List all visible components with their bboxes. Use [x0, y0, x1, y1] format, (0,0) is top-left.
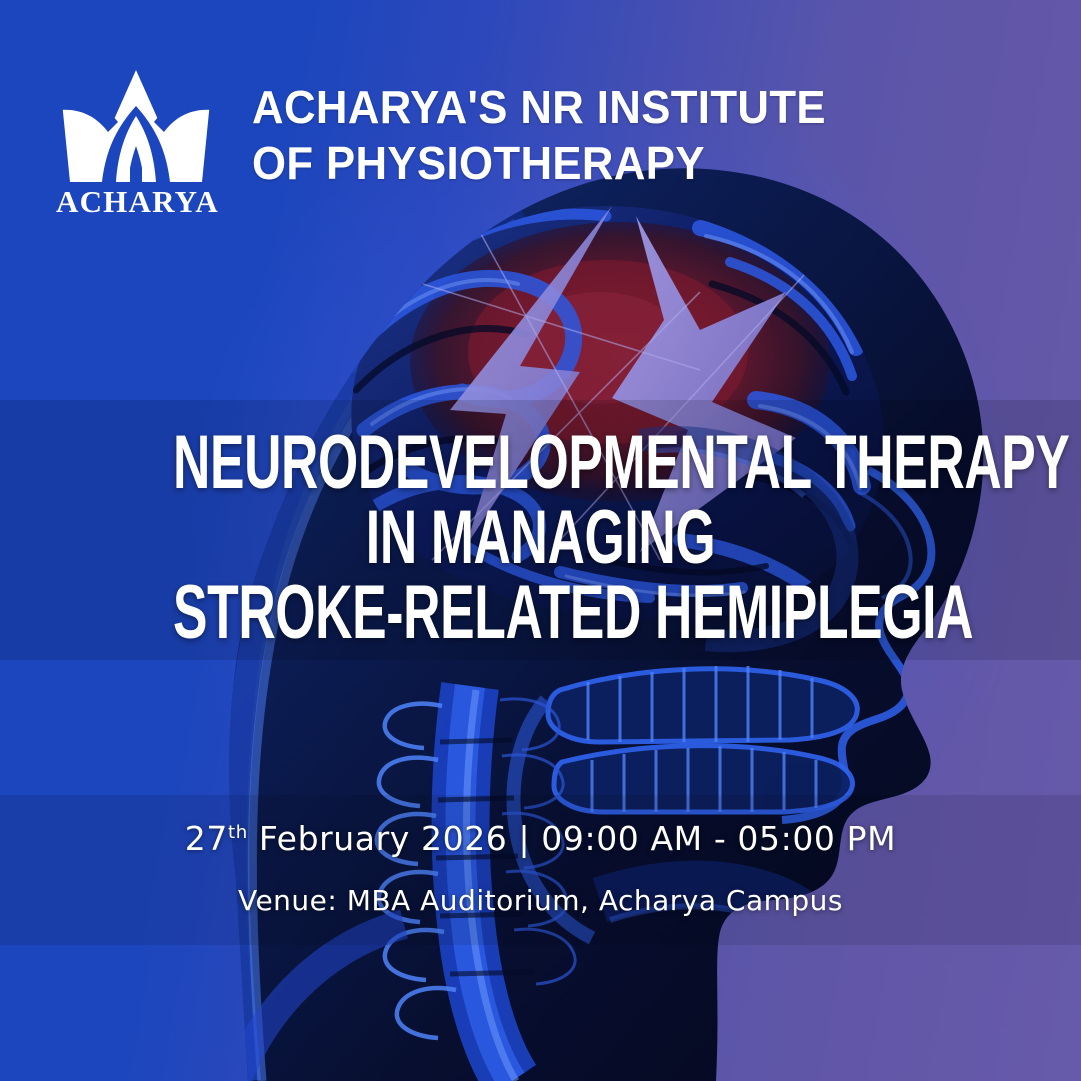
event-date-time: 27th February 2026 | 09:00 AM - 05:00 PM: [0, 818, 1081, 861]
acharya-wordmark: ACHARYA: [56, 186, 216, 219]
event-title-line-3: STROKE-RELATED HEMIPLEGIA: [173, 575, 908, 650]
event-title-line-2: IN MANAGING: [173, 500, 908, 575]
event-day-suffix: th: [228, 822, 248, 843]
event-venue: Venue: MBA Auditorium, Acharya Campus: [0, 883, 1081, 919]
event-title-line-1: NEURODEVELOPMENTAL THERAPY (NDT): [173, 425, 908, 500]
poster-canvas: ACHARYA ACHARYA'S NR INSTITUTE OF PHYSIO…: [0, 0, 1081, 1081]
institute-name: ACHARYA'S NR INSTITUTE OF PHYSIOTHERAPY: [252, 79, 826, 191]
acharya-lotus-mark: [56, 66, 216, 184]
institute-name-line-1: ACHARYA'S NR INSTITUTE: [252, 79, 826, 135]
acharya-logo: ACHARYA: [56, 66, 216, 219]
event-day: 27: [185, 819, 228, 858]
institute-name-line-2: OF PHYSIOTHERAPY: [252, 135, 826, 191]
event-details: 27th February 2026 | 09:00 AM - 05:00 PM…: [0, 818, 1081, 919]
event-title: NEURODEVELOPMENTAL THERAPY (NDT) IN MANA…: [0, 425, 1081, 651]
event-date-rest: February 2026 | 09:00 AM - 05:00 PM: [248, 819, 896, 858]
